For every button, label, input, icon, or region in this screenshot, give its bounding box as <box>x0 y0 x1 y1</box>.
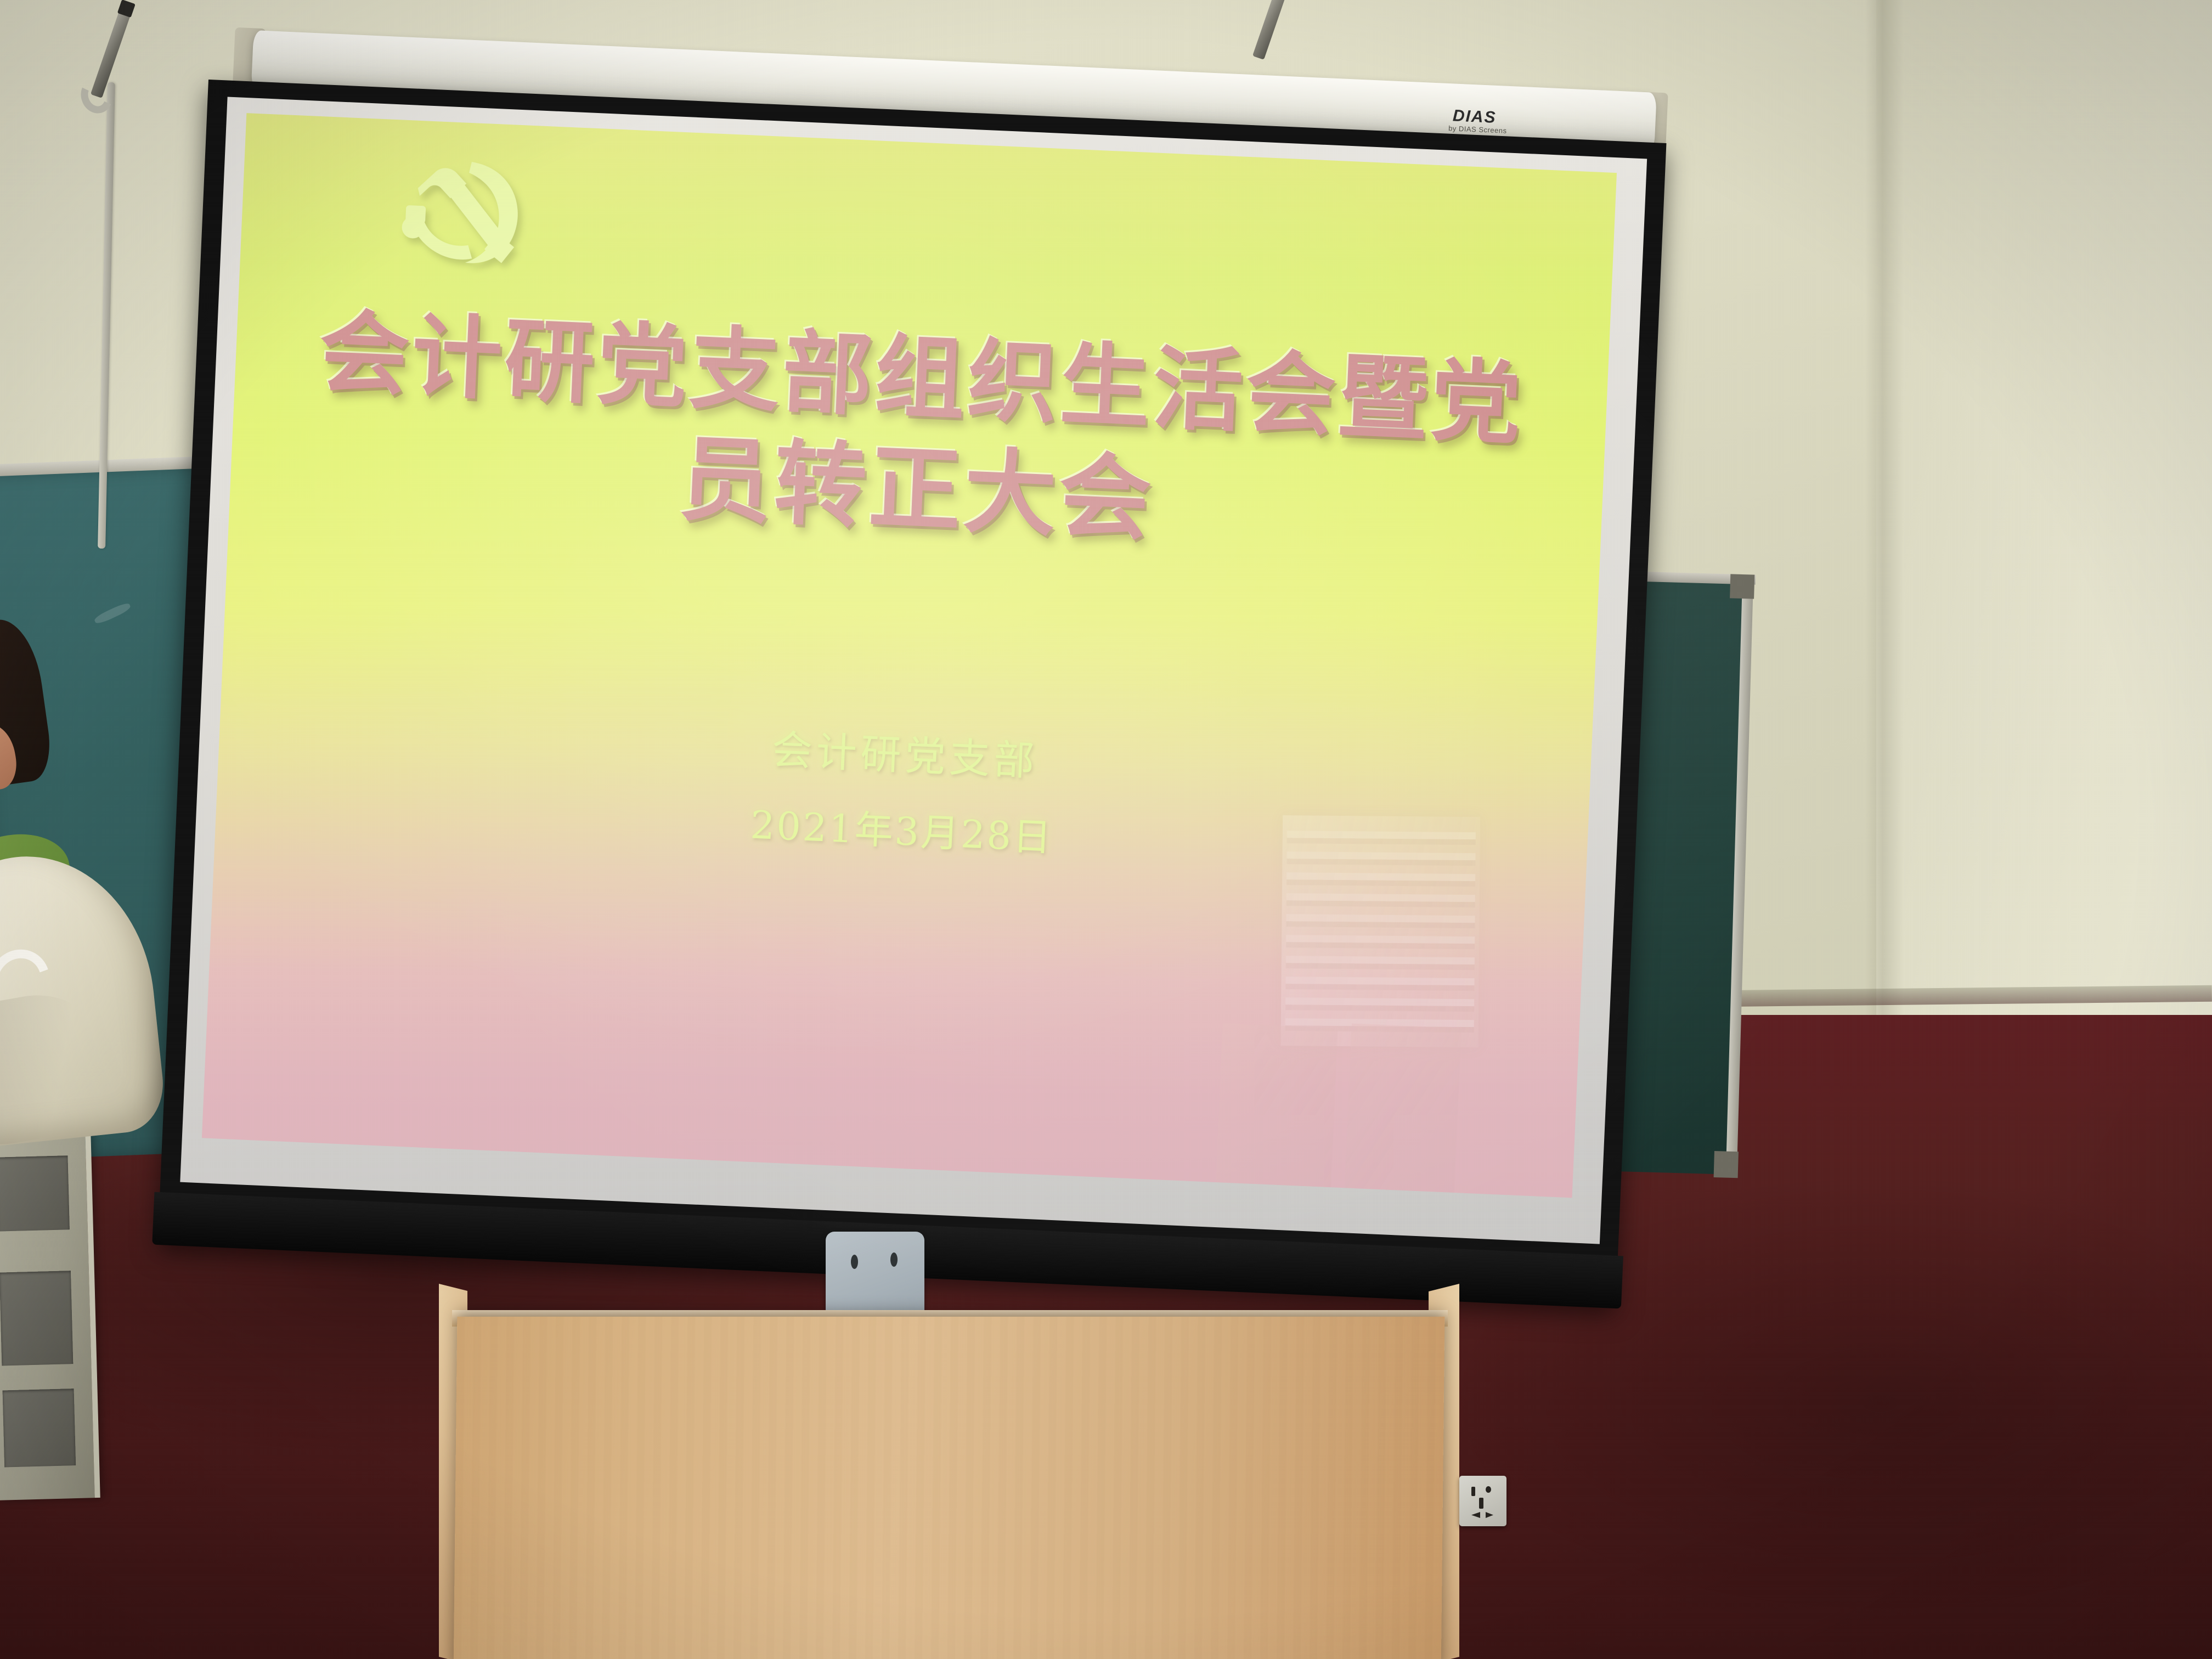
outlet-slot <box>1471 1487 1475 1496</box>
wall-corner-shadow <box>1865 0 1904 1075</box>
projector-screen-border: 会计研党支部组织生活会暨党 员转正大会 会计研党支部 2021年3月28日 <box>158 80 1667 1305</box>
lectern-front-panel <box>454 1317 1445 1659</box>
watermark-building-left <box>1215 1023 1338 1198</box>
cabinet-panel <box>0 1271 73 1365</box>
outlet-slot <box>1479 1498 1483 1509</box>
projected-slide: 会计研党支部组织生活会暨党 员转正大会 会计研党支部 2021年3月28日 <box>202 113 1617 1198</box>
wall-plate-screw <box>851 1255 858 1269</box>
power-outlet[interactable] <box>1459 1476 1506 1526</box>
wooden-lectern[interactable] <box>439 1284 1454 1659</box>
outlet-slot <box>1486 1486 1491 1493</box>
classroom-photo-scene: DIAS by DIAS Screens <box>0 0 2212 1659</box>
cabinet-panel <box>0 1155 70 1231</box>
outlet-slot <box>1486 1512 1493 1518</box>
screen-brand-sublabel: by DIAS Screens <box>1448 124 1507 135</box>
cabinet-panel <box>3 1389 76 1467</box>
watermark-building-right <box>1344 1024 1462 1198</box>
person-in-hoodie <box>0 620 165 1114</box>
wall-plate-screw <box>890 1252 898 1267</box>
chalkboard-corner-bracket <box>1714 1151 1739 1178</box>
cpc-hammer-sickle-emblem <box>399 150 535 276</box>
wall-mounted-equipment-cabinet[interactable] <box>0 1125 100 1500</box>
chalkboard-corner-bracket <box>1730 574 1754 599</box>
projector-screen-unit[interactable]: DIAS by DIAS Screens <box>208 30 1695 1270</box>
projector-screen-fabric: 会计研党支部组织生活会暨党 员转正大会 会计研党支部 2021年3月28日 <box>180 97 1647 1244</box>
upper-wall-right-panel <box>1876 0 2212 1086</box>
outlet-slot <box>1471 1512 1480 1518</box>
slide-title: 会计研党支部组织生活会暨党 员转正大会 <box>229 294 1609 576</box>
